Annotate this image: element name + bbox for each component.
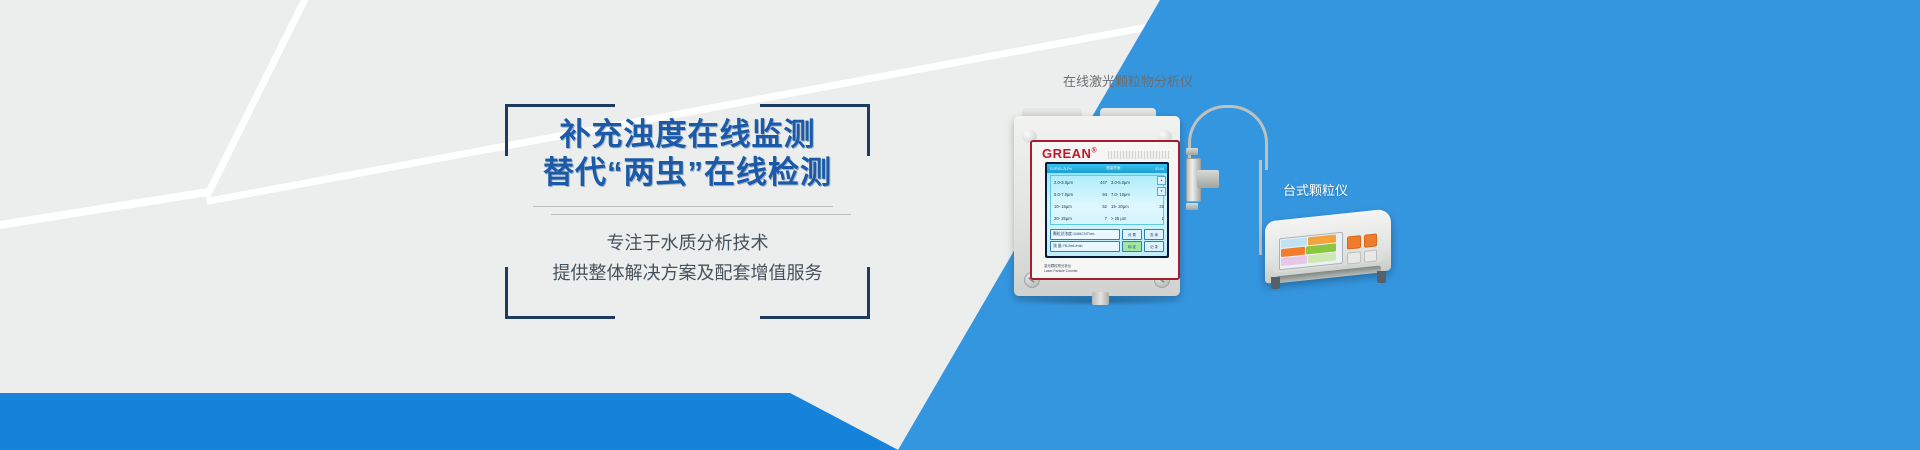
cell-range-a: 20- 25μm	[1054, 216, 1086, 221]
frame-corner-bottom-left-h	[505, 316, 615, 319]
flow-cell-cap	[1197, 170, 1219, 188]
field-total-concentration: 颗粒总浓度:1166CNT/mL	[1050, 229, 1120, 240]
cell-count-a: 447	[1086, 180, 1111, 185]
screen-key-record[interactable]: 记 录	[1144, 241, 1164, 252]
benchtop-foot-right	[1377, 271, 1386, 283]
callout-online-analyzer: 在线激光颗粒物分析仪	[1063, 71, 1193, 90]
scroll-up-icon[interactable]: ▲	[1157, 176, 1166, 185]
benchtop-particle-counter	[1265, 205, 1405, 300]
scroll-down-icon[interactable]: ▼	[1157, 187, 1166, 196]
screen-row-concentration: 颗粒总浓度:1166CNT/mL 设 置 查 询	[1050, 229, 1164, 239]
benchtop-key-3[interactable]	[1347, 251, 1361, 265]
callout-benchtop-counter: 台式颗粒仪	[1283, 180, 1348, 199]
frame-corner-top-right-h	[760, 104, 870, 107]
screen-clock: 01:44	[1155, 167, 1164, 171]
subtitle-line-2: 提供整体解决方案及配套增值服务	[505, 258, 870, 288]
screen-title-left: GJPXB-ZLPd	[1050, 167, 1072, 171]
screen-title-center: 测量界面	[1106, 166, 1120, 171]
hero-headline: 补充浊度在线监测 替代“两虫”在线检测	[483, 116, 892, 192]
benchtop-keypad[interactable]	[1347, 233, 1377, 264]
screen-title-bar: GJPXB-ZLPd 测量界面 01:44	[1047, 164, 1167, 173]
benchtop-touchscreen[interactable]	[1279, 232, 1343, 271]
analyzer-screen[interactable]: GJPXB-ZLPd 测量界面 01:44 2.0-3.0μm 447 3.0-…	[1047, 164, 1167, 256]
analyzer-model-label: 激光颗粒物分析仪 Laser Particle Counter	[1044, 264, 1078, 274]
online-laser-particle-analyzer: GREAN® GJPXB-ZLPd 测量界面 01:44 2.0-3.0μm 4…	[1008, 106, 1186, 306]
analyzer-brand-logo: GREAN®	[1042, 146, 1097, 161]
analyzer-bottom-connector	[1092, 292, 1109, 305]
divider-upper	[533, 206, 833, 207]
analyzer-model-en: Laser Particle Counter	[1044, 269, 1078, 274]
cell-range-b: 3.0-5.0μm	[1111, 180, 1143, 185]
screen-button-area: 颗粒总浓度:1166CNT/mL 设 置 查 询 流 量:78.2mL/min …	[1050, 229, 1164, 253]
field-flow-rate: 流 量:78.2mL/min	[1050, 241, 1120, 252]
hero-text-frame: 补充浊度在线监测 替代“两虫”在线检测 专注于水质分析技术 提供整体解决方案及配…	[505, 104, 870, 319]
flow-cell-nut-top	[1186, 148, 1198, 155]
subtitle-line-1: 专注于水质分析技术	[505, 228, 870, 258]
screen-key-calibration[interactable]: 标 定	[1122, 241, 1142, 252]
cell-range-a: 5.0-7.0μm	[1054, 192, 1086, 197]
frame-corner-bottom-right-h	[760, 316, 870, 319]
analyzer-enclosure: GREAN® GJPXB-ZLPd 测量界面 01:44 2.0-3.0μm 4…	[1014, 116, 1180, 296]
screen-tile	[1308, 252, 1336, 263]
table-row: 5.0-7.0μm 94 7.0- 10μm 76	[1051, 188, 1163, 200]
brand-text: GREAN	[1042, 146, 1091, 161]
table-row: 20- 25μm 7 > 25 μm 1	[1051, 212, 1163, 224]
table-row: 2.0-3.0μm 447 3.0-5.0μm 454	[1051, 176, 1163, 188]
headline-line-1: 补充浊度在线监测	[483, 116, 892, 154]
screen-scroll-buttons[interactable]: ▲ ▼	[1157, 176, 1164, 198]
analyzer-display-bezel: GJPXB-ZLPd 测量界面 01:44 2.0-3.0μm 447 3.0-…	[1045, 162, 1169, 258]
cell-range-b: 7.0- 10μm	[1111, 192, 1143, 197]
cell-range-a: 10- 15μm	[1054, 204, 1086, 209]
divider-lower	[551, 214, 851, 215]
cell-range-b: 15- 20μm	[1111, 204, 1143, 209]
screen-data-grid: 2.0-3.0μm 447 3.0-5.0μm 454 5.0-7.0μm 94…	[1050, 175, 1164, 225]
flow-cell-nut-bottom	[1186, 203, 1198, 210]
sample-tubing-downleg	[1259, 160, 1262, 255]
benchtop-key-4[interactable]	[1364, 249, 1378, 263]
cell-range-b: > 25 μm	[1111, 216, 1143, 221]
screen-key-query[interactable]: 查 询	[1144, 229, 1164, 240]
screen-row-flow: 流 量:78.2mL/min 标 定 记 录	[1050, 241, 1164, 251]
analyzer-front-panel: GREAN® GJPXB-ZLPd 测量界面 01:44 2.0-3.0μm 4…	[1030, 140, 1180, 280]
screen-key-settings[interactable]: 设 置	[1122, 229, 1142, 240]
table-row: 10- 15μm 52 15- 20μm 35	[1051, 200, 1163, 212]
cell-count-b: 35	[1143, 204, 1167, 209]
screen-tile	[1281, 255, 1307, 266]
headline-line-2: 替代“两虫”在线检测	[483, 154, 892, 192]
analyzer-vent-grille	[1108, 151, 1170, 159]
brand-registered-mark: ®	[1091, 148, 1097, 155]
hero-subtitle: 专注于水质分析技术 提供整体解决方案及配套增值服务	[505, 228, 870, 288]
hero-banner: 补充浊度在线监测 替代“两虫”在线检测 专注于水质分析技术 提供整体解决方案及配…	[0, 0, 1920, 450]
cell-count-a: 7	[1086, 216, 1111, 221]
cell-count-b: 1	[1143, 216, 1167, 221]
benchtop-key-2[interactable]	[1364, 233, 1378, 247]
cell-range-a: 2.0-3.0μm	[1054, 180, 1086, 185]
cell-count-a: 94	[1086, 192, 1111, 197]
benchtop-key-1[interactable]	[1347, 235, 1361, 249]
benchtop-foot-left	[1271, 277, 1280, 289]
headline-divider-group	[523, 206, 853, 215]
cell-count-a: 52	[1086, 204, 1111, 209]
frame-corner-top-left-h	[505, 104, 615, 107]
